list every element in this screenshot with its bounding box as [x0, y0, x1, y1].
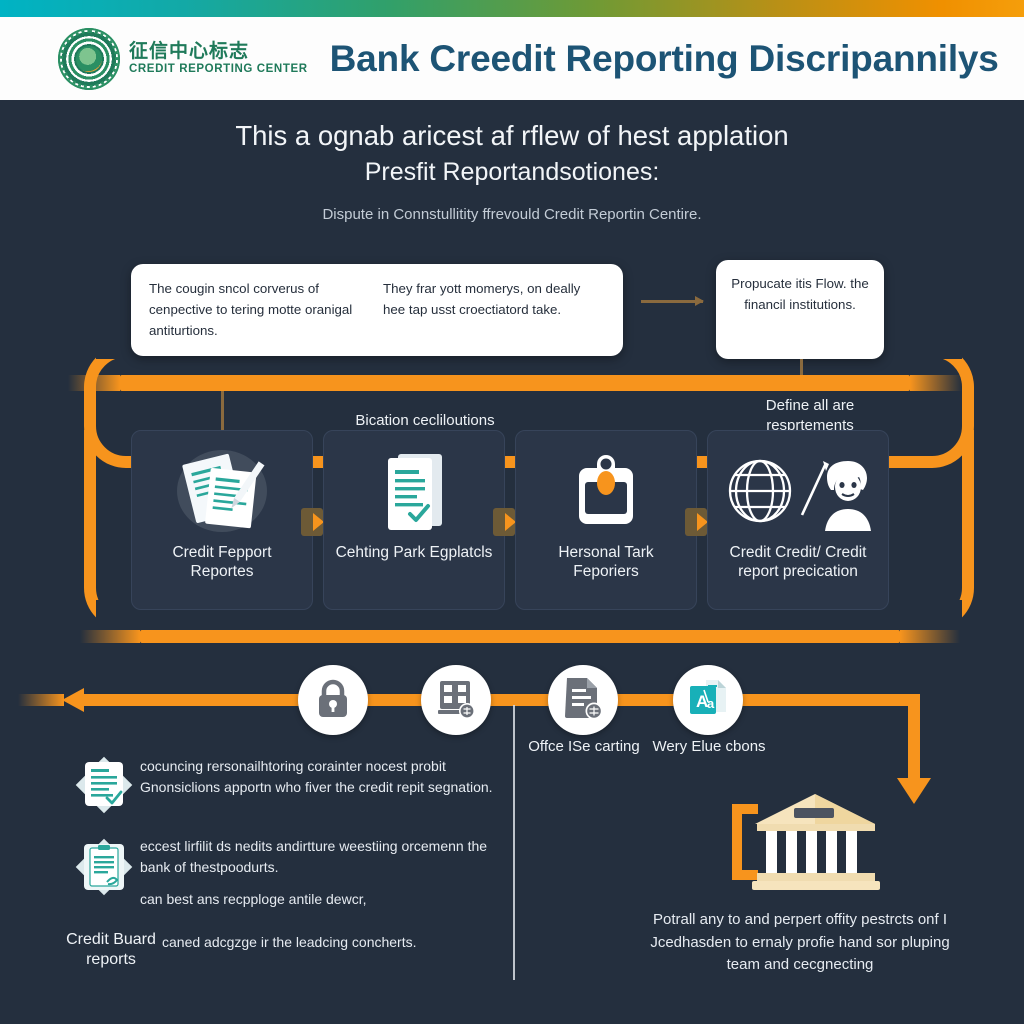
logo-chinese-text: 征信中心标志: [129, 42, 308, 62]
process-card-3[interactable]: Hersonal Tark Feporiers: [515, 430, 697, 610]
bank-caption: Potrall any to and perpert offity pestrc…: [600, 909, 1000, 977]
card-section-label-1: Bication cecliloutions: [330, 411, 520, 431]
timeline-node-2[interactable]: [421, 665, 491, 735]
bottom-list-item-2-text-a: eccest lirfilit ds nedits andirtture wee…: [140, 836, 498, 878]
globe-person-icon: [722, 447, 874, 535]
emblem-ring-icon: [60, 30, 118, 88]
timeline-caption-4: Wery Elue cbons: [649, 738, 769, 757]
header-bar: 征信中心标志 CREDIT REPORTING CENTER Bank Cree…: [0, 17, 1024, 100]
callout-box-right: Propucate itis Flow. the financil instit…: [716, 260, 884, 359]
clipboard-signed-diamond-icon: [68, 832, 140, 921]
translate-icon: A a: [686, 676, 730, 725]
timeline-line: [80, 694, 920, 706]
timeline-fade-left: [18, 694, 64, 706]
bank-building-icon: [710, 786, 890, 901]
hero-line-2: Presfit Reportandsotiones:: [0, 156, 1024, 189]
timeline-elbow-vertical: [908, 694, 920, 782]
bottom-list-item-1-text: cocuncing rersonailhtoring corainter noc…: [140, 752, 498, 818]
callout-box-left: The cougin sncol corverus of cenpective …: [131, 264, 623, 356]
bottom-list: cocuncing rersonailhtoring corainter noc…: [68, 752, 498, 935]
process-card-1[interactable]: Credit Fepport Reportes: [131, 430, 313, 610]
bank-block: Potrall any to and perpert offity pestrc…: [600, 786, 1000, 977]
timeline-caption-3: Offce ISe carting: [524, 738, 644, 757]
process-card-1-label: Credit Fepport Reportes: [132, 543, 312, 581]
timeline-node-1[interactable]: [298, 665, 368, 735]
document-share-icon: [562, 675, 604, 726]
logo-english-text: CREDIT REPORTING CENTER: [129, 63, 308, 75]
callout-left-col-1: The cougin sncol corverus of cenpective …: [149, 278, 371, 341]
id-badge-icon: [564, 447, 648, 535]
padlock-icon: [313, 676, 353, 725]
top-gradient-bar: [0, 0, 1024, 17]
hero-subtitle: Dispute in Connstullitity ffrevould Cred…: [0, 206, 1024, 223]
process-card-row: Credit Fepport Reportes: [131, 430, 889, 610]
bottom-list-item-2-text: eccest lirfilit ds nedits andirtture wee…: [140, 832, 498, 921]
connector-arrow-down-left: [221, 391, 224, 431]
timeline-node-4[interactable]: A a: [673, 665, 743, 735]
bottom-list-tail-text: caned adcgzge ir the leadcing concherts.: [162, 932, 502, 953]
documents-pen-icon: [168, 447, 276, 535]
checklist-document-icon: [372, 447, 456, 535]
hero-line-1: This a ognab aricest af rflew of hest ap…: [0, 118, 1024, 154]
building-share-icon: [434, 676, 478, 725]
process-card-2-label: Cehting Park Egplatcls: [328, 543, 501, 562]
bottom-list-item-2: eccest lirfilit ds nedits andirtture wee…: [68, 832, 498, 921]
svg-text:a: a: [707, 696, 715, 711]
circular-emblem-icon: [58, 28, 120, 90]
flow-bar-lower: [140, 630, 900, 643]
flow-bar-upper: [120, 375, 910, 391]
connector-arrow-right: [641, 300, 703, 303]
hero-text-block: This a ognab aricest af rflew of hest ap…: [0, 118, 1024, 223]
page-title: Bank Creedit Reporting Discripannilys: [330, 38, 999, 80]
clipboard-check-diamond-icon: [68, 752, 140, 818]
brand-logo: 征信中心标志 CREDIT REPORTING CENTER: [58, 28, 308, 90]
bottom-list-item-2-text-b: can best ans recpploge antile dewcr,: [140, 889, 498, 910]
process-card-4[interactable]: Credit Credit/ Credit report precication: [707, 430, 889, 610]
callout-left-col-2: They frar yott momerys, on deally hee ta…: [383, 278, 605, 341]
process-card-3-label: Hersonal Tark Feporiers: [516, 543, 696, 581]
credit-board-reports-label: Credit Buard reports: [58, 930, 164, 970]
process-card-2[interactable]: Cehting Park Egplatcls: [323, 430, 505, 610]
timeline-node-3[interactable]: [548, 665, 618, 735]
section-divider: [513, 705, 515, 980]
bottom-list-item-1: cocuncing rersonailhtoring corainter noc…: [68, 752, 498, 818]
process-card-4-label: Credit Credit/ Credit report precication: [708, 543, 888, 581]
